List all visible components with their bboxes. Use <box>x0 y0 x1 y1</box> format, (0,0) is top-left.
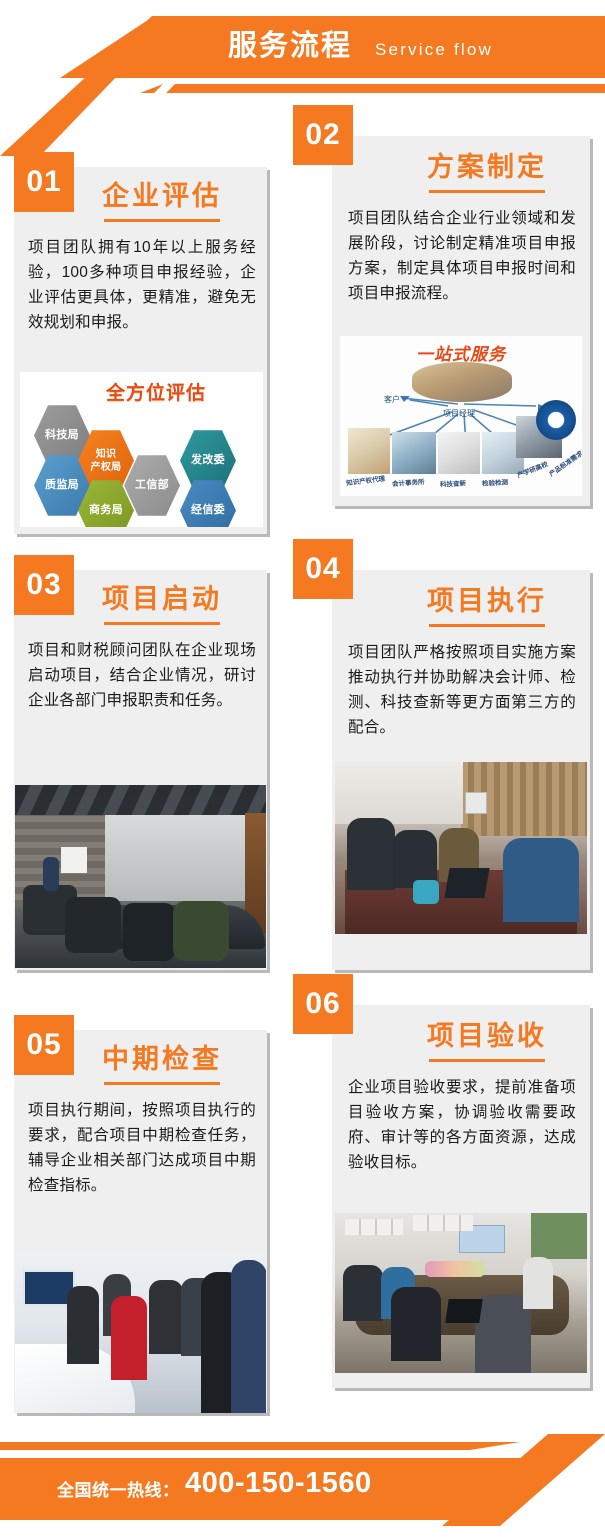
step-number-badge: 03 <box>14 555 74 615</box>
photo-site-visit <box>15 1252 266 1413</box>
card-title: 中期检查 <box>102 1037 222 1076</box>
service-thumb-3 <box>438 432 480 474</box>
card-description: 企业项目验收要求，提前准备项目验收方案，协调验收需要政府、审计等的各方面资源，达… <box>348 1075 576 1175</box>
card-photo-03 <box>15 785 266 968</box>
hotline-number[interactable]: 400-150-1560 <box>185 1467 372 1500</box>
card-description: 项目和财税顾问团队在企业现场启动项目，结合企业情况，研讨企业各部门申报职责和任务… <box>28 638 256 713</box>
photo-green-board <box>531 1213 587 1259</box>
process-step-card-01[interactable]: 01 企业评估 项目团队拥有10年以上服务经验，100多种项目申报经验，企业评估… <box>14 167 267 534</box>
photo-visitor-1 <box>67 1286 99 1364</box>
card-description: 项目团队拥有10年以上服务经验，100多种项目申报经验，企业评估更具体，更精准，… <box>28 235 256 335</box>
photo-execution-meeting <box>335 762 587 934</box>
process-step-card-04[interactable]: 04 项目执行 项目团队严格按照项目实施方案推动执行并协助解决会计师、检测、科技… <box>332 570 590 970</box>
card-photo-04 <box>335 762 587 934</box>
card-title: 项目启动 <box>102 577 222 616</box>
oss-label-novelty: 科技查新 <box>440 477 466 488</box>
photo-certificate-frames-right <box>413 1215 473 1231</box>
oss-label-testing: 检验检测 <box>482 476 508 487</box>
process-step-card-05[interactable]: 05 中期检查 项目执行期间，按照项目执行的要求，配合项目中期检查任务，辅导企业… <box>14 1030 267 1413</box>
photo-laptop <box>445 1299 482 1323</box>
photo-person-blue-shirt <box>503 838 579 922</box>
infographic-page: 服务流程 Service flow 01 企业评估 项目团队拥有10年以上服务经… <box>0 0 605 1538</box>
card-description: 项目团队严格按照项目实施方案推动执行并协助解决会计师、检测、科技查新等更方面第三… <box>348 640 576 740</box>
hotline-label: 全国统一热线： <box>57 1476 180 1501</box>
service-thumb-2 <box>392 432 436 474</box>
photo-attendee-1 <box>343 1265 383 1321</box>
process-step-card-06[interactable]: 06 项目验收 企业项目验收要求，提前准备项目验收方案，协调验收需要政府、审计等… <box>332 1005 590 1388</box>
process-step-card-02[interactable]: 02 方案制定 项目团队结合企业行业领域和发展阶段，讨论制定精准项目申报方案，制… <box>332 136 590 506</box>
iso-badge-icon: ISO <box>536 400 576 440</box>
card-title: 企业评估 <box>102 174 222 213</box>
photo-certificate-frames-left <box>345 1219 403 1235</box>
card-description: 项目团队结合企业行业领域和发展阶段，讨论制定精准项目申报方案，制定具体项目申报时… <box>348 206 576 306</box>
hexagon-diagram: 全方位评估 科技局 知识产权局 质监局 商务局 工信部 发改委 经信委 <box>20 372 263 527</box>
card-title: 项目执行 <box>427 579 547 618</box>
photo-visitor-red-coat <box>111 1296 147 1380</box>
photo-acceptance-meeting <box>335 1213 587 1373</box>
card-photo-06 <box>335 1213 587 1373</box>
card-description: 项目执行期间，按照项目执行的要求，配合项目中期检查任务，辅导企业相关部门达成项目… <box>28 1098 256 1198</box>
oss-node-manager: 项目经理 <box>443 408 475 419</box>
photo-ceiling <box>15 785 266 817</box>
step-number-badge: 01 <box>14 152 74 212</box>
hexagon-diagram-title: 全方位评估 <box>106 378 206 405</box>
card-title: 项目验收 <box>427 1014 547 1053</box>
header-wedge-shape <box>0 16 175 156</box>
footer-banner: 全国统一热线： 400-150-1560 <box>0 1424 605 1538</box>
page-subtitle: Service flow <box>375 37 493 63</box>
photo-attendee-3 <box>391 1287 441 1361</box>
page-title: 服务流程 <box>228 24 352 68</box>
process-step-card-03[interactable]: 03 项目启动 项目和财税顾问团队在企业现场启动项目，结合企业情况，研讨企业各部… <box>14 570 267 970</box>
photo-wall <box>335 762 463 824</box>
photo-person-standing <box>43 857 59 891</box>
step-number-badge: 02 <box>293 105 353 165</box>
photo-flowers <box>425 1261 485 1277</box>
photo-person-1 <box>347 818 395 890</box>
card-photo-05 <box>15 1252 266 1413</box>
photo-person-green-coat <box>173 901 229 961</box>
step-number-badge: 04 <box>293 539 353 599</box>
photo-attendee-5 <box>523 1257 553 1309</box>
photo-visitor-3 <box>149 1280 183 1354</box>
one-stop-service-diagram: 一站式服务 <box>340 336 582 496</box>
card-title: 方案制定 <box>427 145 547 184</box>
photo-visitor-6 <box>231 1260 266 1413</box>
step-number-badge: 05 <box>14 1015 74 1075</box>
photo-laptop <box>444 868 489 898</box>
footer-accent-line <box>0 1442 605 1450</box>
one-stop-service-figure: 一站式服务 <box>340 336 582 496</box>
photo-equipment <box>413 880 439 904</box>
header-banner: 服务流程 Service flow <box>0 0 605 110</box>
photo-conference-room <box>15 785 266 968</box>
service-thumb-1 <box>348 428 390 474</box>
hex-node-jingxin: 经信委 <box>180 479 236 527</box>
photo-chair-3 <box>123 903 175 961</box>
photo-chair-2 <box>65 897 121 953</box>
photo-ac-unit <box>465 792 487 814</box>
step-number-badge: 06 <box>293 974 353 1034</box>
photo-white-wall <box>105 815 245 901</box>
photo-whiteboard <box>61 847 87 873</box>
oss-node-customer: 客户 <box>384 394 400 405</box>
